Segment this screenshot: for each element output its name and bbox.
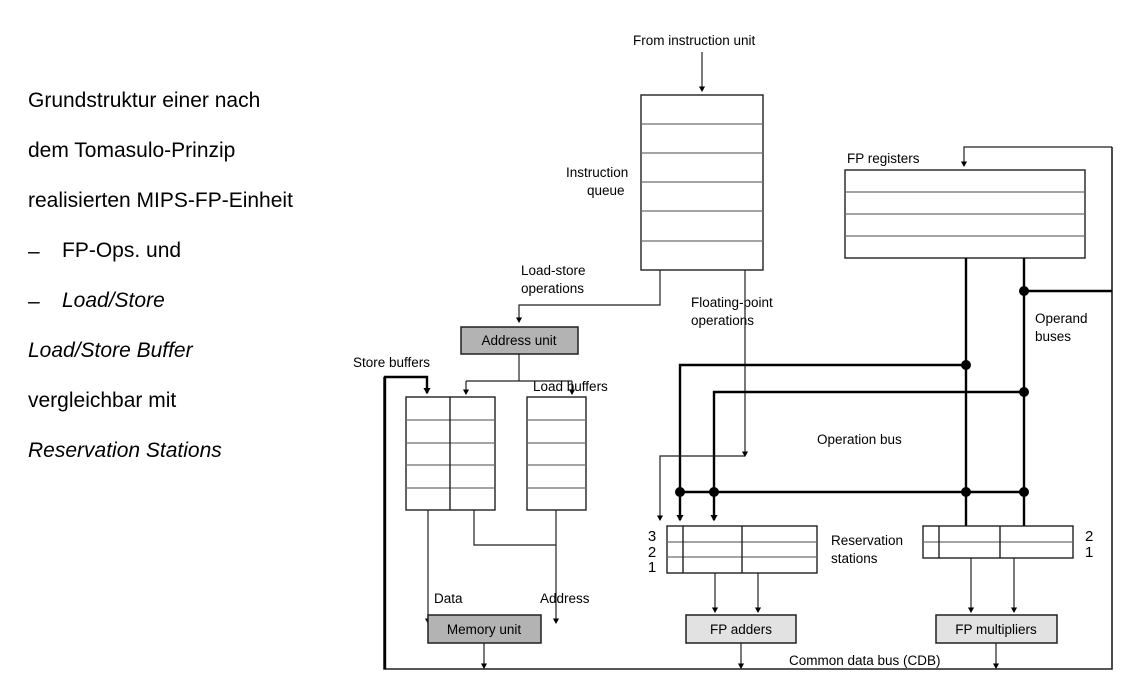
buffers-to-memory-paths [428,510,556,623]
rs-mult-row-number-2: 2 [1085,528,1093,545]
label-floating-point-line1: Floating-point [691,295,773,310]
label-from-instruction-unit: From instruction unit [633,33,756,48]
fp-adders-block: FP adders [686,615,796,643]
instruction-queue-box [641,95,763,270]
label-instruction-queue-line2: queue [587,183,625,198]
label-reservation-stations-line1: Reservation [831,533,903,548]
reservation-stations-multiplier-box [923,526,1073,558]
label-data: Data [434,591,463,606]
rs-adder-row-number-3: 3 [648,528,656,545]
label-fp-multipliers: FP multipliers [955,622,1037,637]
label-store-buffers: Store buffers [353,355,430,370]
label-memory-unit: Memory unit [447,622,522,637]
label-address: Address [540,591,590,606]
label-fp-registers: FP registers [847,151,920,166]
path-cdb-to-fp-registers [964,147,1112,166]
rs-mult-to-fp-multipliers [971,558,1014,612]
tomasulo-block-diagram: From instruction unit Instruction queue … [0,0,1129,682]
label-instruction-queue-line1: Instruction [566,165,628,180]
label-load-store-operations-line1: Load-store [521,263,586,278]
operand-buses [966,258,1112,540]
label-operand-buses-line1: Operand [1035,311,1088,326]
label-operation-bus: Operation bus [817,432,902,447]
rs-adder-to-fp-adders [715,573,758,612]
fp-multipliers-block: FP multipliers [936,615,1057,643]
fp-registers-box [845,170,1085,258]
label-reservation-stations-line2: stations [831,551,878,566]
label-fp-adders: FP adders [710,622,772,637]
address-unit-block: Address unit [461,327,578,354]
store-buffers-box [406,397,495,510]
label-common-data-bus: Common data bus (CDB) [789,653,941,668]
label-address-unit: Address unit [481,333,556,348]
memory-unit-block: Memory unit [428,615,541,643]
label-operand-buses-line2: buses [1035,329,1071,344]
label-load-store-operations-line2: operations [521,281,584,296]
rs-mult-row-number-1: 1 [1085,544,1093,561]
load-buffers-box [527,397,586,510]
reservation-stations-adder-box [667,526,817,573]
rs-adder-row-number-1: 1 [648,559,656,576]
label-load-buffers: Load buffers [533,379,608,394]
slide-canvas: Grundstruktur einer nach dem Tomasulo-Pr… [0,0,1129,682]
